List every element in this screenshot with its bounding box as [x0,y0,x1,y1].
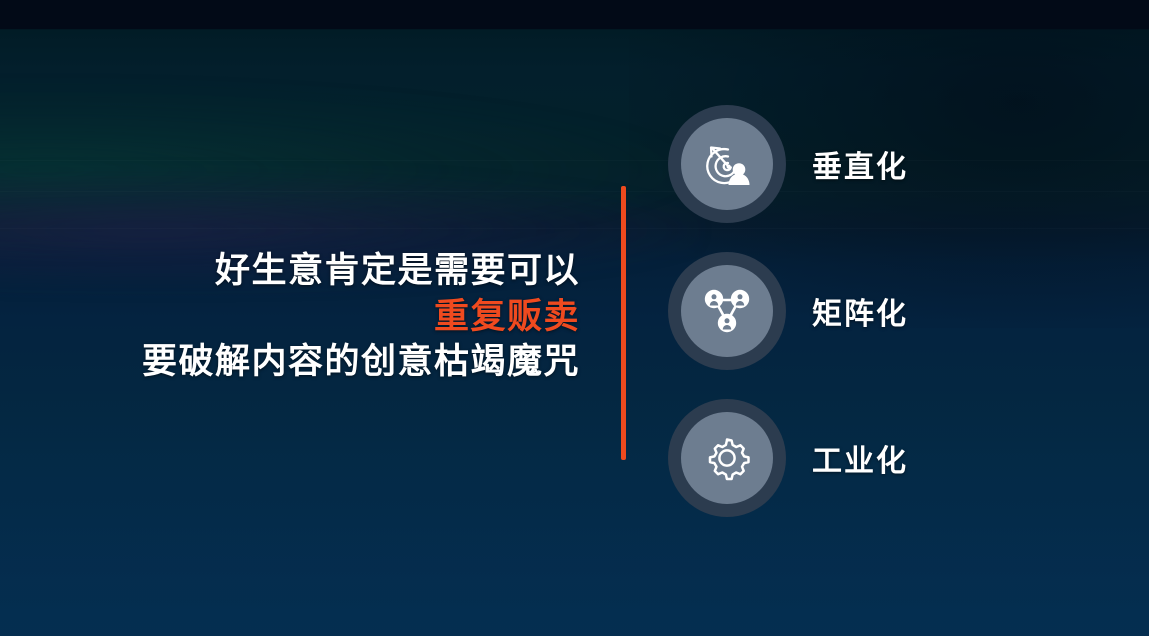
headline-line-3: 要破解内容的创意枯竭魔咒 [60,339,580,385]
background-top-band [0,0,1149,29]
icon-badge [668,252,786,370]
feature-item-vertical[interactable]: 垂直化 [668,100,1088,228]
headline: 好生意肯定是需要可以 重复贩卖 要破解内容的创意枯竭魔咒 [60,248,580,385]
target-audience-icon [698,135,756,193]
feature-item-matrix[interactable]: 矩阵化 [668,247,1088,375]
icon-badge [668,105,786,223]
icon-badge-inner [681,412,773,504]
slide-canvas: 好生意肯定是需要可以 重复贩卖 要破解内容的创意枯竭魔咒 [0,0,1149,636]
feature-label: 垂直化 [812,142,908,186]
gear-icon [700,431,754,485]
feature-item-industrial[interactable]: 工业化 [668,394,1088,522]
feature-list: 垂直化 [668,100,1088,522]
icon-badge-inner [681,265,773,357]
headline-line-2-accent: 重复贩卖 [60,294,580,340]
feature-label: 矩阵化 [812,289,908,333]
icon-badge [668,399,786,517]
vertical-divider [621,186,626,460]
feature-label: 工业化 [812,436,908,480]
headline-line-1: 好生意肯定是需要可以 [60,248,580,294]
icon-badge-inner [681,118,773,210]
network-nodes-icon [699,283,755,339]
